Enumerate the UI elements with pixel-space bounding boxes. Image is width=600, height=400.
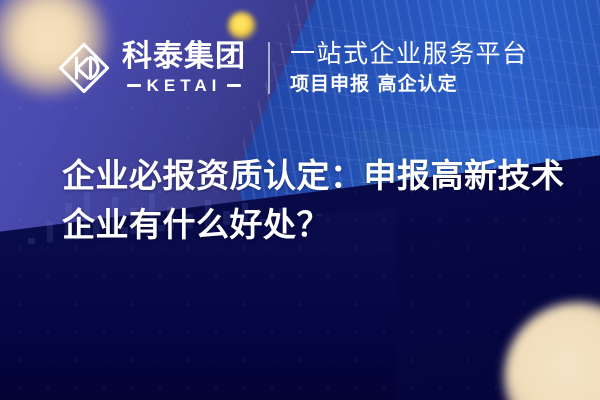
- headline-line-2: 企业有什么好处？: [62, 201, 562, 250]
- headline-block: 企业必报资质认定：申报高新技术 企业有什么好处？: [62, 152, 562, 250]
- promo-banner: 科泰集团 KETAI 一站式企业服务平台 项目申报 高企认定 企业必报资质认定：…: [0, 0, 600, 400]
- tagline-group: 一站式企业服务平台 项目申报 高企认定: [290, 40, 529, 96]
- dash-left-icon: [127, 84, 141, 87]
- tagline-main: 一站式企业服务平台: [290, 40, 529, 68]
- banner-content: 科泰集团 KETAI 一站式企业服务平台 项目申报 高企认定 企业必报资质认定：…: [0, 0, 600, 400]
- brand-wordmark: 科泰集团 KETAI: [122, 42, 246, 94]
- headline-line-1: 企业必报资质认定：申报高新技术: [62, 152, 562, 201]
- brand-name-en-row: KETAI: [127, 77, 242, 94]
- brand-name-en: KETAI: [147, 77, 222, 94]
- brand-header: 科泰集团 KETAI 一站式企业服务平台 项目申报 高企认定: [56, 40, 529, 96]
- dash-right-icon: [227, 84, 241, 87]
- tagline-sub: 项目申报 高企认定: [290, 73, 529, 96]
- brand-name-cn: 科泰集团: [122, 42, 246, 72]
- header-divider: [268, 42, 270, 94]
- ketai-logo-icon: [56, 40, 112, 96]
